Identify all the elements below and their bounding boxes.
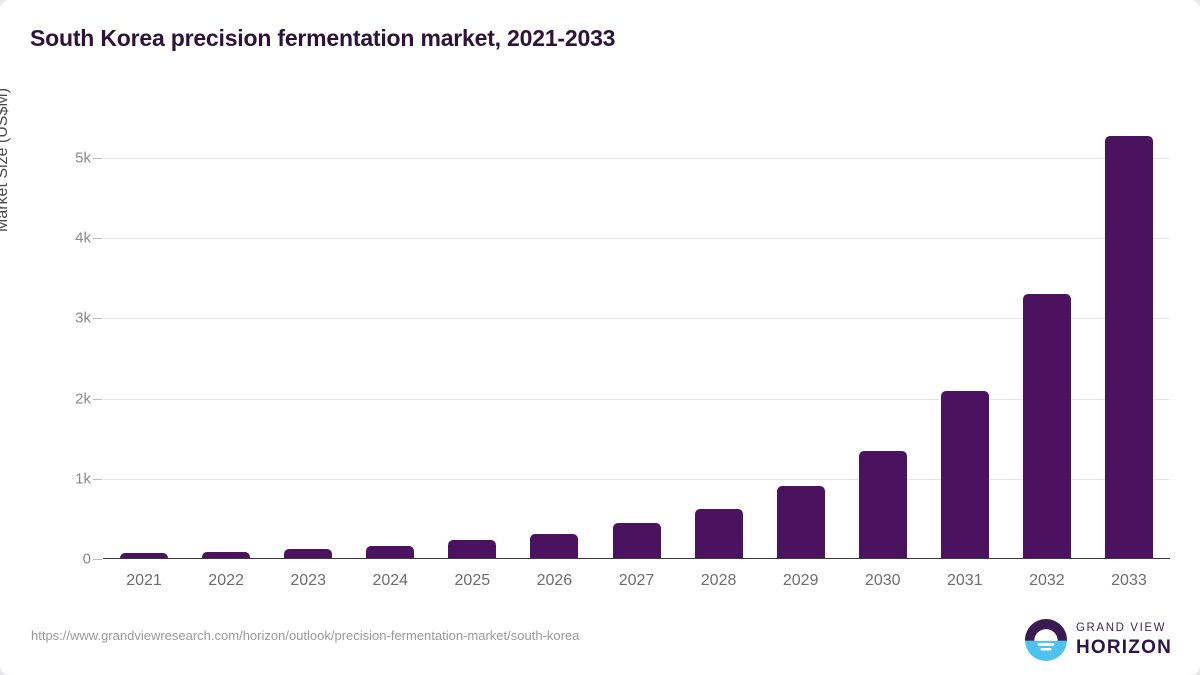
y-tick-mark [93, 479, 102, 480]
y-tick-label: 5k [35, 150, 91, 167]
y-tick-label: 2k [35, 390, 91, 407]
source-url[interactable]: https://www.grandviewresearch.com/horizo… [31, 628, 579, 643]
x-tick-label-2026: 2026 [513, 572, 595, 590]
y-tick-mark [93, 318, 102, 319]
x-tick-label-2033: 2033 [1088, 572, 1170, 590]
y-tick-mark [93, 399, 102, 400]
x-tick-label-2022: 2022 [185, 572, 267, 590]
y-tick-label: 0 [35, 551, 91, 568]
y-tick-mark [93, 158, 102, 159]
chart-card: South Korea precision fermentation marke… [0, 0, 1200, 675]
brand-line-grand-view: GRAND VIEW [1076, 623, 1172, 635]
x-tick-label-2029: 2029 [760, 572, 842, 590]
x-tick-label-2023: 2023 [267, 572, 349, 590]
brand-line-horizon: HORIZON [1076, 638, 1172, 657]
y-tick-mark [93, 238, 102, 239]
y-tick-label: 4k [35, 230, 91, 247]
x-tick-label-2032: 2032 [1006, 572, 1088, 590]
page-title: South Korea precision fermentation marke… [30, 25, 615, 52]
x-tick-label-2027: 2027 [595, 572, 677, 590]
x-tick-label-2028: 2028 [678, 572, 760, 590]
horizon-sun-circle-icon [1025, 619, 1067, 661]
x-tick-label-2030: 2030 [842, 572, 924, 590]
brand-logo: GRAND VIEW HORIZON [1025, 618, 1172, 662]
x-tick-label-2024: 2024 [349, 572, 431, 590]
brand-text: GRAND VIEW HORIZON [1076, 623, 1172, 657]
y-tick-mark [93, 559, 102, 560]
y-tick-label: 1k [35, 470, 91, 487]
x-axis-ticks: 2021202220232024202520262027202820292030… [103, 110, 1170, 559]
x-tick-label-2025: 2025 [431, 572, 513, 590]
y-axis-title: Market Size (US$M) [0, 88, 12, 232]
y-tick-label: 3k [35, 310, 91, 327]
x-tick-label-2031: 2031 [924, 572, 1006, 590]
x-tick-label-2021: 2021 [103, 572, 185, 590]
